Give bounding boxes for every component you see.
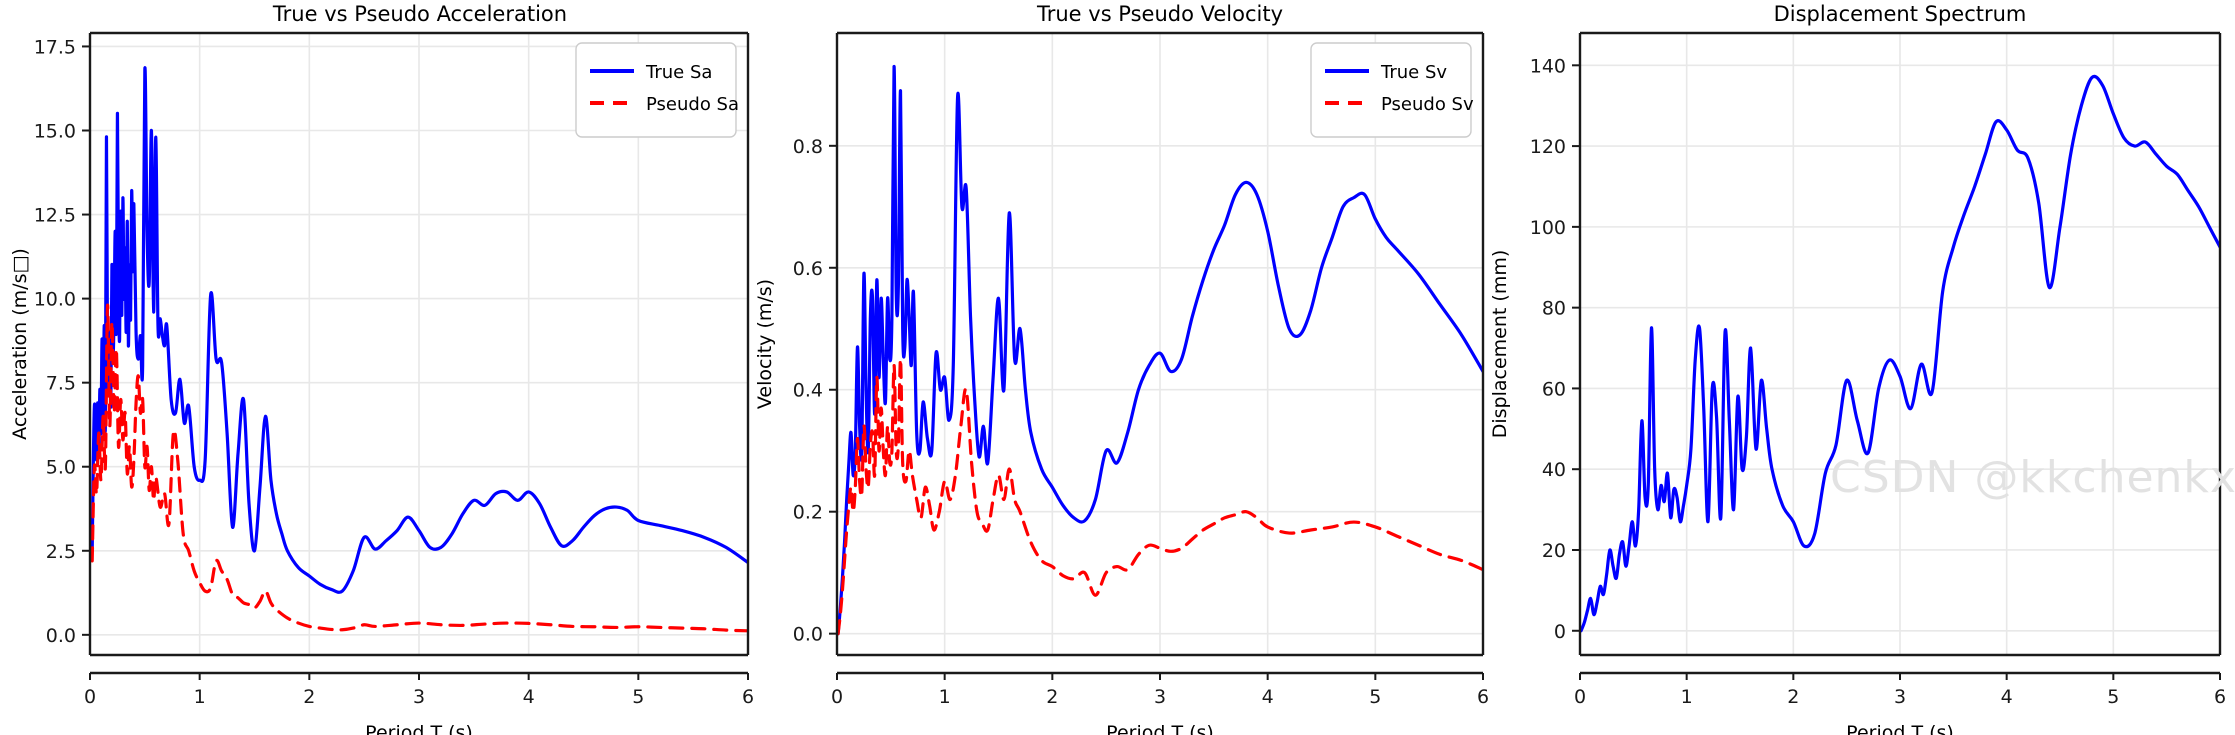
x-tick-label: 5: [632, 686, 644, 708]
x-tick-label: 0: [831, 686, 843, 708]
chart-title: True vs Pseudo Velocity: [1036, 2, 1283, 26]
y-tick-label: 2.5: [46, 541, 76, 563]
y-tick-label: 120: [1530, 136, 1566, 158]
y-axis-label: Velocity (m/s): [754, 279, 776, 409]
y-axis-label: Acceleration (m/s□): [9, 248, 31, 440]
chart-panel-velocity: True vs Pseudo Velocity01234560.00.20.40…: [745, 0, 1505, 735]
y-tick-label: 60: [1542, 378, 1566, 400]
x-tick-label: 6: [2214, 686, 2226, 708]
figure-canvas: True vs Pseudo Acceleration01234560.02.5…: [0, 0, 2235, 735]
legend-box: [1311, 43, 1471, 137]
y-tick-label: 0.6: [793, 258, 823, 280]
x-tick-label: 2: [1787, 686, 1799, 708]
y-tick-label: 0: [1554, 621, 1566, 643]
y-tick-label: 0.4: [793, 380, 823, 402]
legend-box: [576, 43, 736, 137]
y-tick-label: 140: [1530, 55, 1566, 77]
x-tick-label: 5: [2107, 686, 2119, 708]
x-tick-label: 4: [2001, 686, 2013, 708]
y-axis: 020406080100120140: [1530, 55, 1580, 642]
x-axis-label: Period T (s): [1846, 722, 1954, 735]
y-tick-label: 15.0: [34, 121, 76, 143]
y-axis: 0.02.55.07.510.012.515.017.5: [34, 36, 90, 646]
x-axis: 0123456: [1574, 673, 2226, 708]
legend-label: True Sv: [1380, 62, 1447, 83]
x-axis-label: Period T (s): [365, 722, 473, 735]
y-tick-label: 100: [1530, 217, 1566, 239]
x-axis: 0123456: [84, 673, 754, 708]
y-tick-label: 7.5: [46, 373, 76, 395]
x-tick-label: 0: [1574, 686, 1586, 708]
chart-title: Displacement Spectrum: [1774, 2, 2027, 26]
y-tick-label: 17.5: [34, 36, 76, 58]
y-tick-label: 12.5: [34, 205, 76, 227]
y-tick-label: 0.0: [46, 625, 76, 647]
x-tick-label: 2: [1046, 686, 1058, 708]
y-tick-label: 0.2: [793, 502, 823, 524]
y-axis-label: Displacement (mm): [1489, 250, 1511, 439]
y-tick-label: 0.0: [793, 624, 823, 646]
x-tick-label: 1: [194, 686, 206, 708]
x-tick-label: 4: [523, 686, 535, 708]
y-tick-label: 40: [1542, 459, 1566, 481]
chart-svg-acceleration: True vs Pseudo Acceleration01234560.02.5…: [0, 0, 760, 735]
chart-panel-displacement: Displacement Spectrum0123456020406080100…: [1480, 0, 2235, 735]
y-axis: 0.00.20.40.60.8: [793, 136, 837, 646]
chart-title: True vs Pseudo Acceleration: [272, 2, 567, 26]
x-tick-label: 1: [939, 686, 951, 708]
legend-label: Pseudo Sv: [1381, 94, 1474, 115]
legend-label: Pseudo Sa: [646, 94, 739, 115]
y-tick-label: 0.8: [793, 136, 823, 158]
legend-label: True Sa: [645, 62, 712, 83]
x-tick-label: 4: [1262, 686, 1274, 708]
x-tick-label: 5: [1369, 686, 1381, 708]
x-axis: 0123456: [831, 673, 1489, 708]
chart-svg-velocity: True vs Pseudo Velocity01234560.00.20.40…: [745, 0, 1505, 735]
x-tick-label: 1: [1681, 686, 1693, 708]
chart-panel-acceleration: True vs Pseudo Acceleration01234560.02.5…: [0, 0, 760, 735]
y-tick-label: 20: [1542, 540, 1566, 562]
y-tick-label: 80: [1542, 298, 1566, 320]
legend[interactable]: True SaPseudo Sa: [576, 43, 739, 137]
chart-svg-displacement: Displacement Spectrum0123456020406080100…: [1480, 0, 2235, 735]
x-tick-label: 3: [1154, 686, 1166, 708]
x-tick-label: 0: [84, 686, 96, 708]
legend[interactable]: True SvPseudo Sv: [1311, 43, 1474, 137]
y-tick-label: 10.0: [34, 289, 76, 311]
y-tick-label: 5.0: [46, 457, 76, 479]
x-tick-label: 3: [413, 686, 425, 708]
x-axis-label: Period T (s): [1106, 722, 1214, 735]
x-tick-label: 2: [303, 686, 315, 708]
x-tick-label: 3: [1894, 686, 1906, 708]
